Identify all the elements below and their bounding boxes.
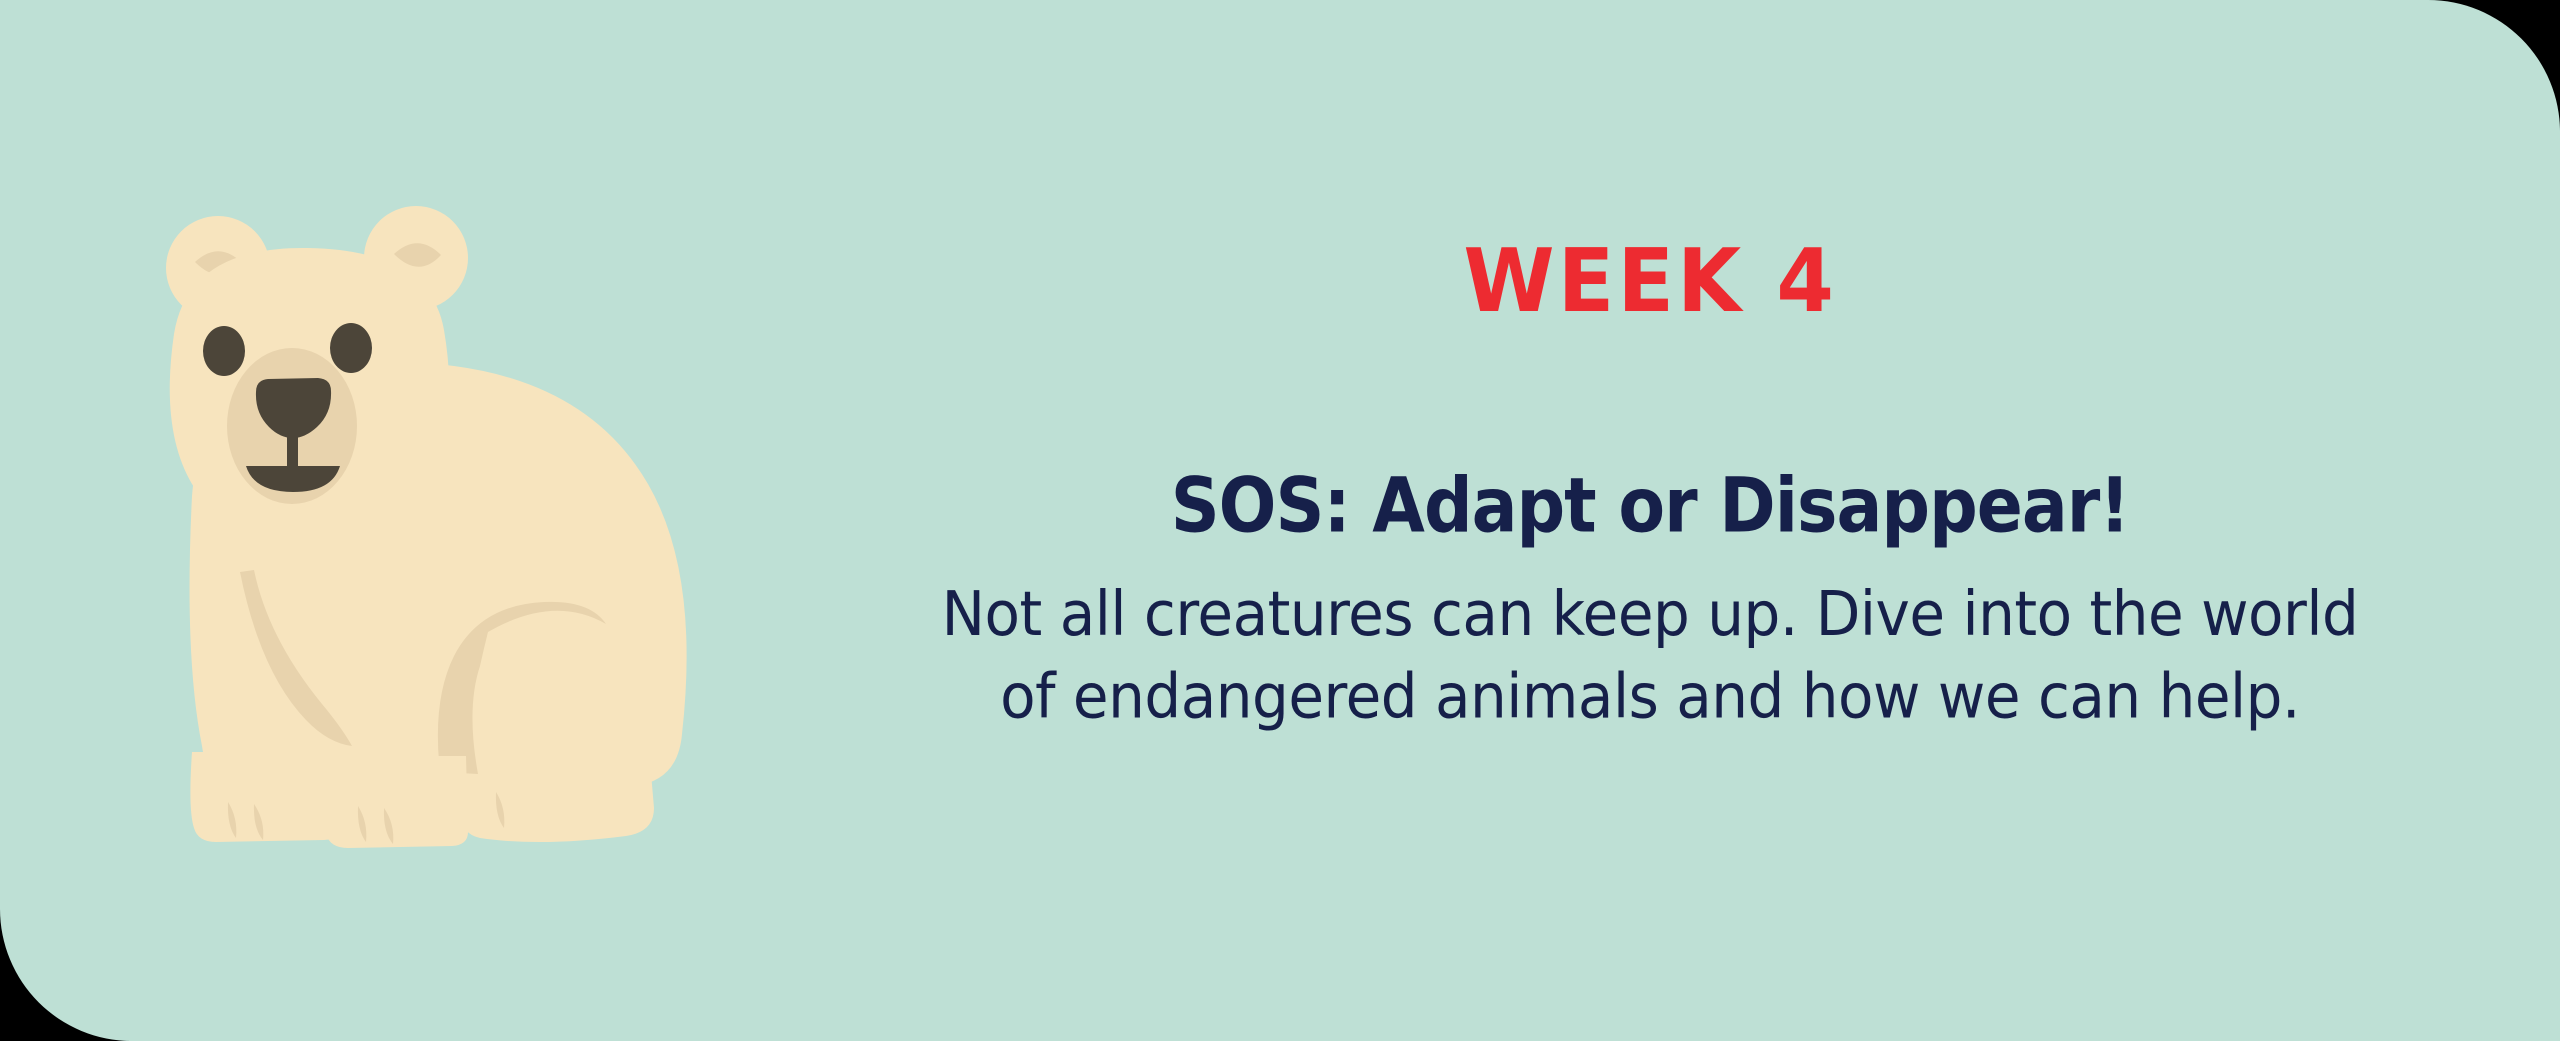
bear-front-paw-right-icon bbox=[322, 756, 468, 848]
polar-bear-illustration bbox=[96, 196, 756, 856]
body-line-2: of endangered animals and how we can hel… bbox=[942, 656, 2359, 739]
text-column: WEEK 4 SOS: Adapt or Disappear! Not all … bbox=[800, 180, 2500, 800]
page-title: SOS: Adapt or Disappear! bbox=[1171, 466, 2130, 548]
eyebrow-wrap: WEEK 4 bbox=[1474, 222, 1826, 342]
week-eyebrow-label: WEEK 4 bbox=[1463, 238, 1837, 325]
body-line-1: Not all creatures can keep up. Dive into… bbox=[942, 573, 2359, 656]
body-copy: Not all creatures can keep up. Dive into… bbox=[942, 573, 2359, 739]
bear-eye-right-icon bbox=[330, 323, 372, 373]
polar-bear-svg bbox=[96, 196, 756, 856]
bear-eye-left-icon bbox=[203, 326, 245, 376]
bear-front-paw-left-icon bbox=[190, 752, 340, 842]
week-card: WEEK 4 SOS: Adapt or Disappear! Not all … bbox=[0, 0, 2560, 1041]
